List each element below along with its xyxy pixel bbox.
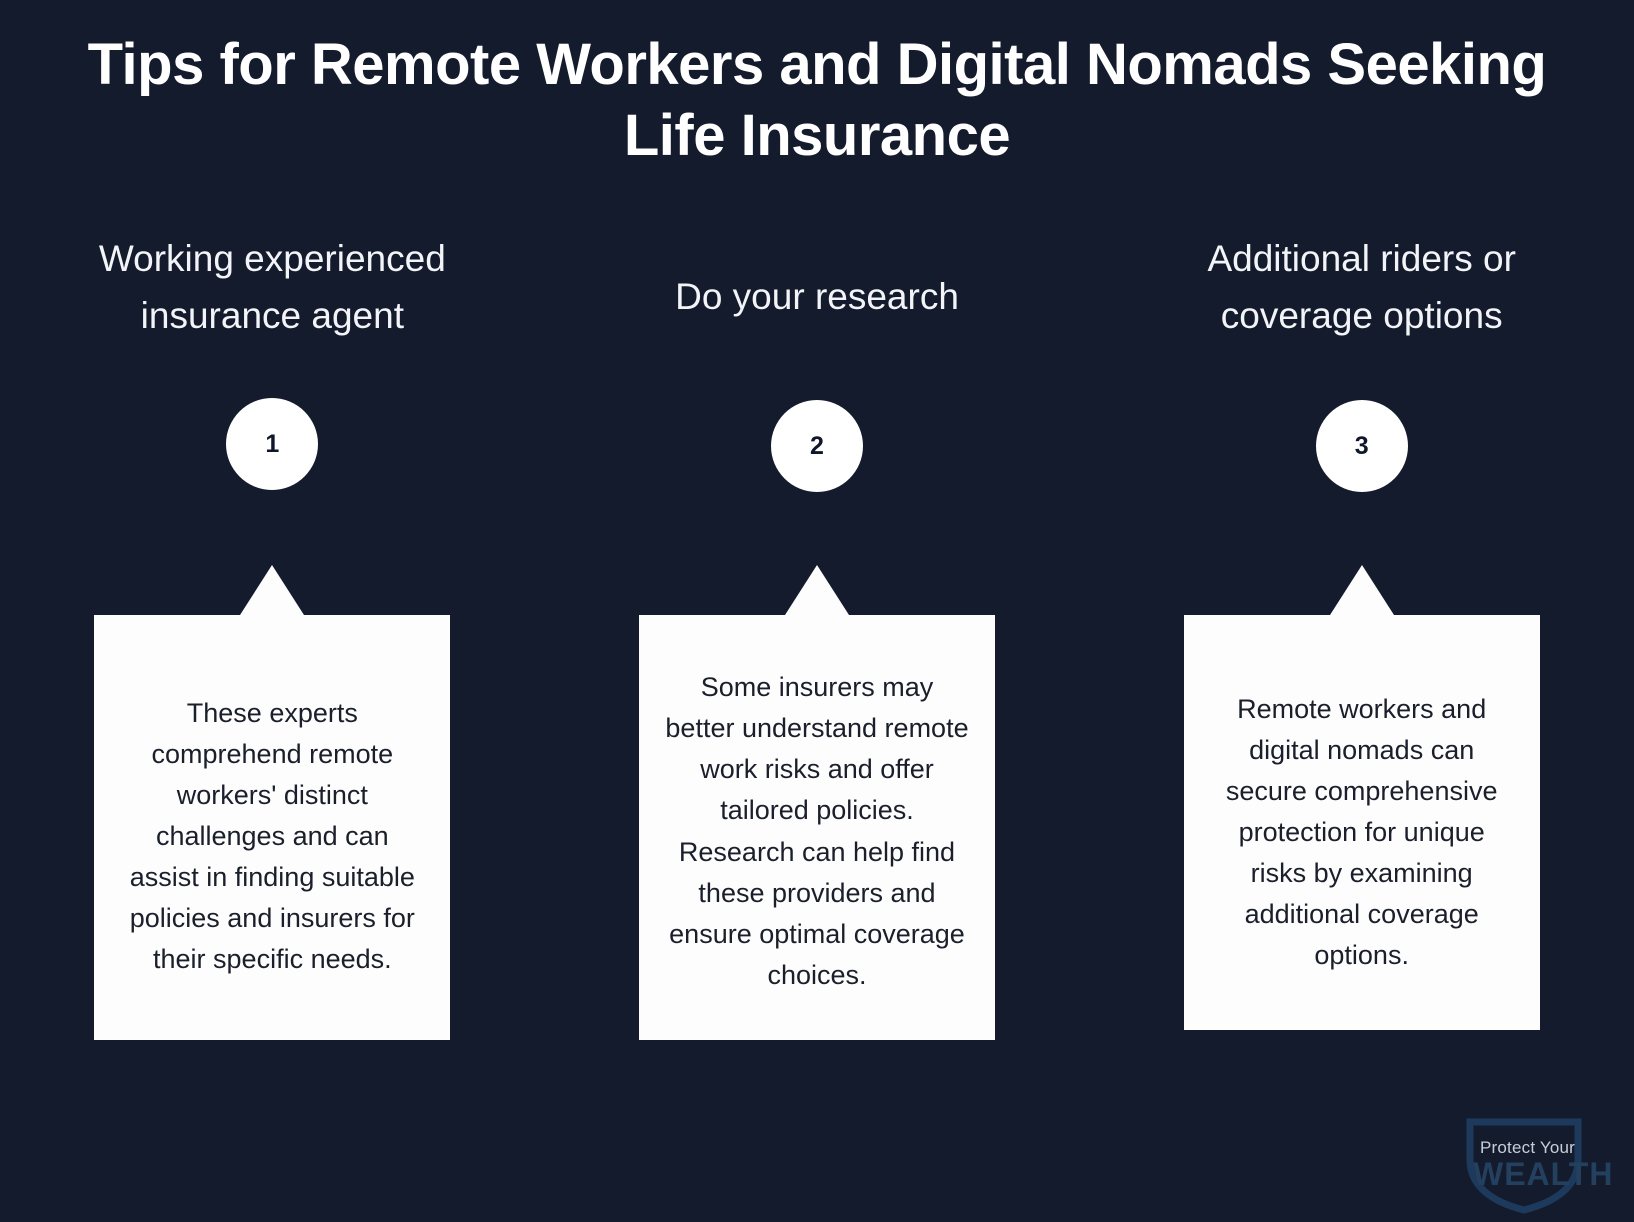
- step-badge-3: 3: [1316, 400, 1408, 492]
- column-2-body: Some insurers may better understand remo…: [665, 667, 969, 995]
- column-1-card: These experts comprehend remote workers'…: [94, 615, 450, 1040]
- brand-logo: Protect Your WEALTH: [1456, 1104, 1606, 1214]
- columns-container: Working experienced insurance agent 1 Th…: [0, 230, 1634, 1090]
- column-2: Do your research 2 Some insurers may bet…: [545, 230, 1090, 1090]
- infographic-slide: Tips for Remote Workers and Digital Noma…: [0, 0, 1634, 1222]
- column-3: Additional riders or coverage options 3 …: [1089, 230, 1634, 1090]
- card-pointer-triangle-icon: [785, 565, 849, 615]
- column-2-heading: Do your research: [545, 268, 1090, 325]
- column-1-heading: Working experienced insurance agent: [0, 230, 545, 345]
- column-2-card: Some insurers may better understand remo…: [639, 615, 995, 1040]
- column-2-card-wrapper: Some insurers may better understand remo…: [639, 565, 995, 1040]
- page-title: Tips for Remote Workers and Digital Noma…: [60, 30, 1574, 172]
- column-1-card-wrapper: These experts comprehend remote workers'…: [94, 565, 450, 1040]
- column-3-card-wrapper: Remote workers and digital nomads can se…: [1184, 565, 1540, 1030]
- logo-line-2: WEALTH: [1473, 1156, 1613, 1193]
- card-pointer-triangle-icon: [240, 565, 304, 615]
- column-1-body: These experts comprehend remote workers'…: [120, 693, 424, 980]
- logo-line-1: Protect Your: [1480, 1138, 1575, 1158]
- step-badge-2: 2: [771, 400, 863, 492]
- card-pointer-triangle-icon: [1330, 565, 1394, 615]
- column-3-heading: Additional riders or coverage options: [1089, 230, 1634, 345]
- step-badge-1: 1: [226, 398, 318, 490]
- column-3-card: Remote workers and digital nomads can se…: [1184, 615, 1540, 1030]
- column-3-body: Remote workers and digital nomads can se…: [1210, 689, 1514, 976]
- column-1: Working experienced insurance agent 1 Th…: [0, 230, 545, 1090]
